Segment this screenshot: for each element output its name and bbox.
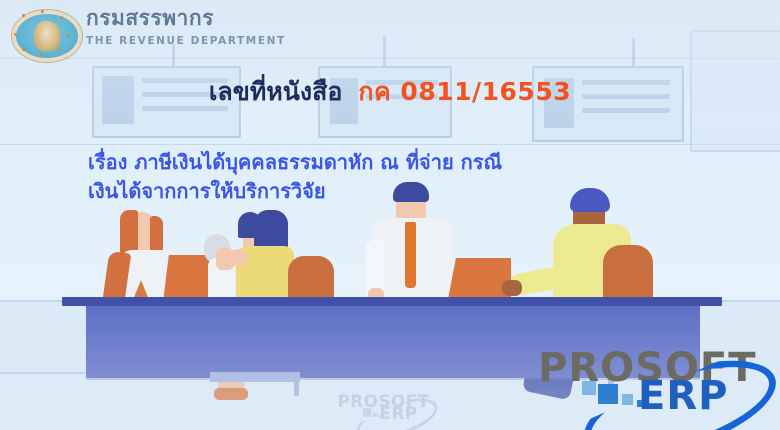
- emblem-figure: [34, 21, 60, 51]
- emblem-dot: [58, 48, 61, 51]
- tie: [405, 222, 416, 288]
- headline-label: เลขที่หนังสือ: [209, 77, 342, 106]
- poster-stem: [632, 38, 635, 66]
- emblem-dot: [60, 16, 63, 19]
- agency-name-thai: กรมสรรพากร: [86, 8, 214, 29]
- prosoft-erp-logo: PROSOFT ERP: [520, 348, 770, 426]
- emblem-dot: [40, 53, 43, 56]
- poster-line: [142, 106, 228, 111]
- wall-band: [0, 144, 780, 145]
- emblem-dot: [66, 34, 69, 37]
- subject-line-2: เงินได้จากการให้บริการวิจัย: [88, 177, 748, 206]
- headline: เลขที่หนังสือกค 0811/16553: [0, 78, 780, 106]
- emblem-oval: [12, 10, 82, 62]
- poster-stem: [172, 44, 175, 66]
- prosoft-erp-watermark: PROSOFT ERP: [330, 393, 435, 426]
- shoe: [214, 388, 248, 400]
- watermark-square: [363, 408, 371, 416]
- subject-line-1: เรื่อง ภาษีเงินได้บุคคลธรรมดาหัก ณ ที่จ่…: [88, 150, 502, 174]
- emblem-dot: [41, 10, 44, 13]
- table-top-edge: [62, 297, 722, 306]
- agency-name-english: THE REVENUE DEPARTMENT: [86, 36, 286, 47]
- wall-band: [0, 58, 780, 59]
- brand-square: [598, 384, 618, 404]
- poster-stem: [383, 36, 386, 66]
- emblem-dot: [22, 48, 25, 51]
- brand-square: [582, 381, 596, 395]
- poster-line: [582, 108, 670, 113]
- emblem-dot: [22, 14, 25, 17]
- slide-canvas: กรมสรรพากร THE REVENUE DEPARTMENT เลขที่…: [0, 0, 780, 430]
- subject-text: เรื่อง ภาษีเงินได้บุคคลธรรมดาหัก ณ ที่จ่…: [88, 148, 748, 206]
- hand: [502, 280, 522, 296]
- document-number: กค 0811/16553: [358, 77, 571, 106]
- revenue-department-emblem-icon: [8, 4, 78, 60]
- table-foot-shadow: [210, 372, 300, 382]
- emblem-dot: [14, 33, 17, 36]
- hair-front: [238, 212, 262, 238]
